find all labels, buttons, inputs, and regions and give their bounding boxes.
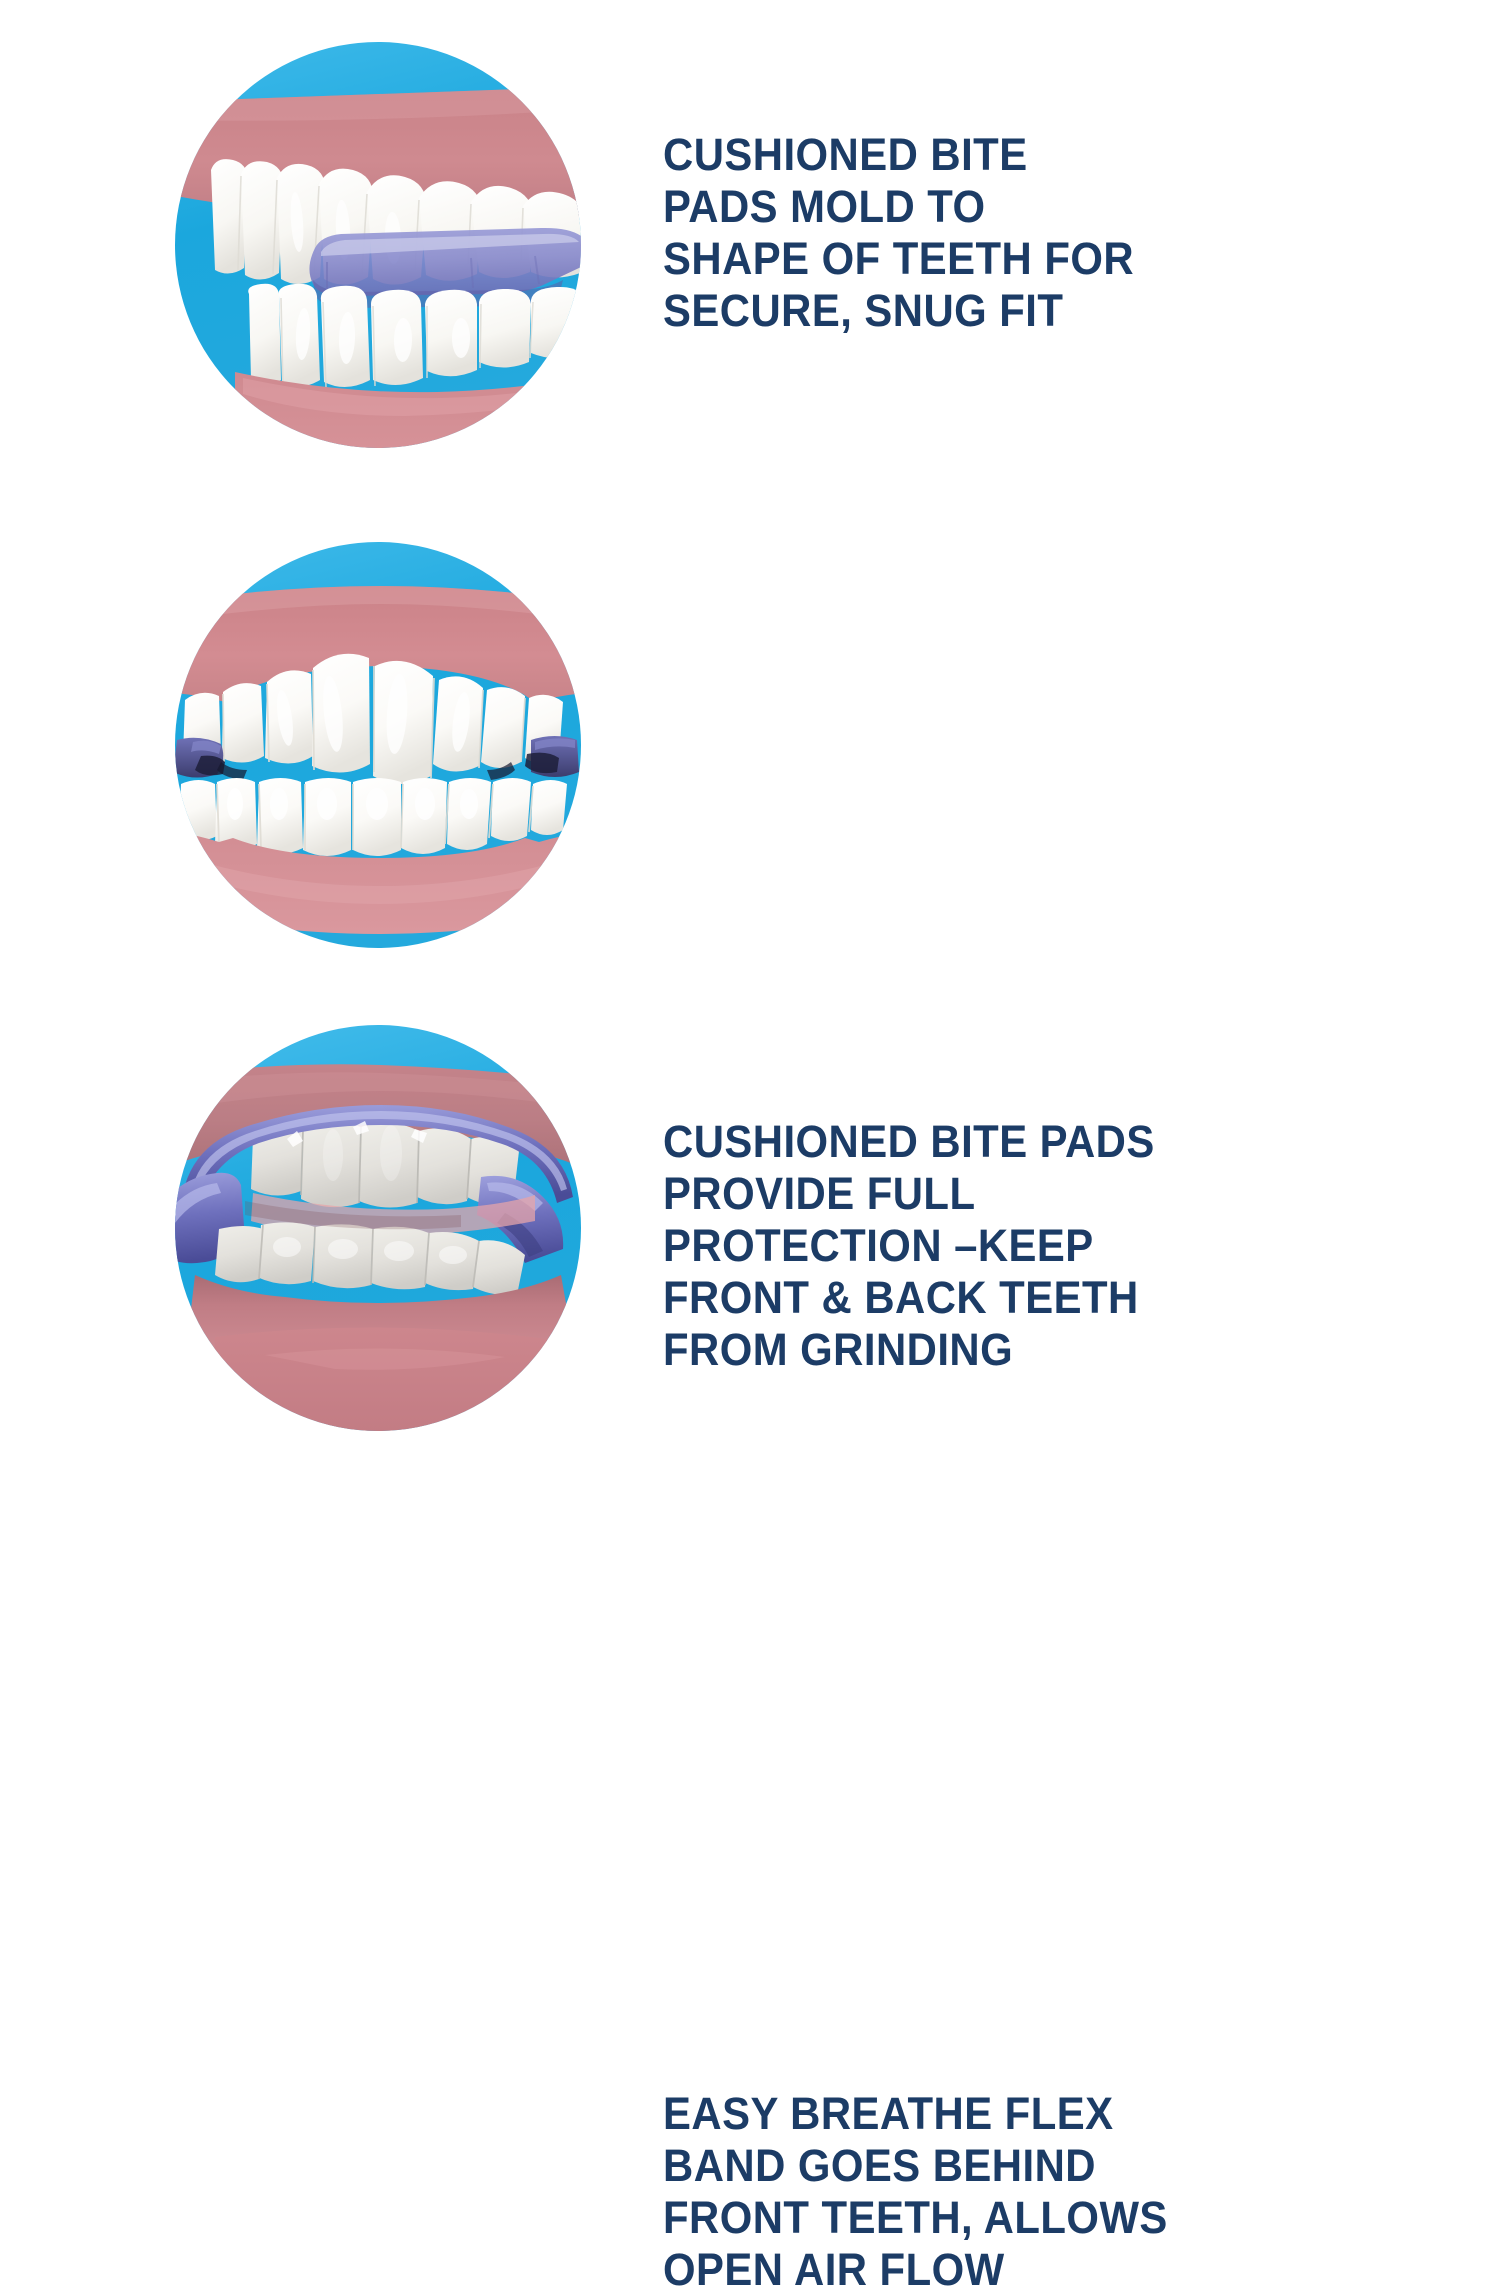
front-view-teeth-svg [175,542,581,948]
dental-model [175,586,581,934]
illustration-side-view-mouthguard-between-teeth [175,42,581,448]
oral-interior-model [175,1064,581,1431]
dental-model [175,86,581,448]
feature-row-1: CUSHIONED BITE PADS MOLD TO SHAPE OF TEE… [0,20,1500,490]
illustration-front-view-teeth-with-rear-bite-pads [175,542,581,948]
side-view-mouthguard-svg [175,42,581,448]
feature-caption-1: CUSHIONED BITE PADS MOLD TO SHAPE OF TEE… [663,129,1314,337]
feature-caption-3: EASY BREATHE FLEX BAND GOES BEHIND FRONT… [663,2088,1314,2296]
interior-flex-band-svg [175,1025,581,1431]
illustration-interior-view-flex-band-behind-front-teeth [175,1025,581,1431]
feature-row-3: EASY BREATHE FLEX BAND GOES BEHIND FRONT… [0,1003,1500,1473]
tongue [211,1327,555,1431]
product-feature-infographic: CUSHIONED BITE PADS MOLD TO SHAPE OF TEE… [0,0,1500,1500]
feature-row-2: CUSHIONED BITE PADS PROVIDE FULL PROTECT… [0,520,1500,990]
